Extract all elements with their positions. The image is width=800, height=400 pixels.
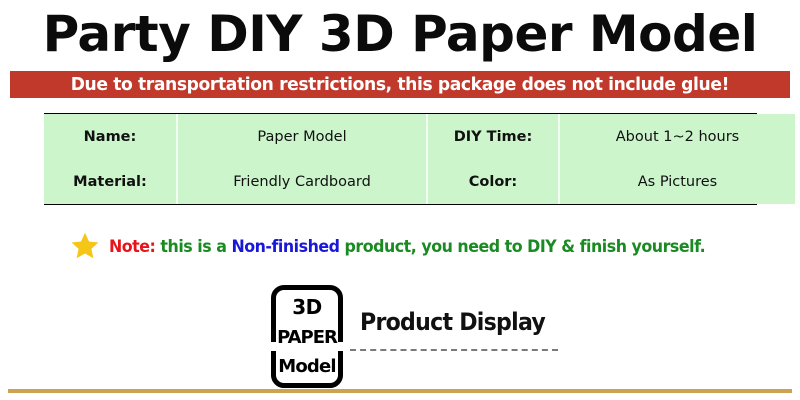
badge-line-3d: 3D: [292, 297, 322, 317]
table-row: Material: Friendly Cardboard Color: As P…: [44, 159, 795, 204]
spec-value-diy-time: About 1~2 hours: [559, 114, 795, 159]
product-display-heading: Product Display: [360, 308, 545, 336]
note-label: Note:: [109, 237, 155, 256]
badge-line-paper: PAPER: [277, 329, 337, 347]
note-segment-tail: product, you need to DIY & finish yourse…: [345, 237, 706, 256]
badge-line-model: Model: [278, 358, 336, 376]
spec-value-color: As Pictures: [559, 159, 795, 204]
transport-warning-text: Due to transportation restrictions, this…: [71, 75, 729, 95]
note-text: Note: this is a Non-finished product, yo…: [109, 237, 705, 256]
product-display-dashed-rule: [350, 349, 558, 351]
note-segment-highlight: Non-finished: [231, 237, 339, 256]
note-row: Note: this is a Non-finished product, yo…: [0, 231, 800, 261]
note-segment-intro: this is a: [160, 237, 226, 256]
page-title: Party DIY 3D Paper Model: [0, 2, 800, 66]
table-row: Name: Paper Model DIY Time: About 1~2 ho…: [44, 114, 795, 159]
star-icon: [70, 231, 100, 261]
spec-value-name: Paper Model: [177, 114, 427, 159]
transport-warning-banner: Due to transportation restrictions, this…: [10, 71, 790, 98]
spec-label-material: Material:: [44, 159, 177, 204]
badge-lines: 3D PAPER Model: [271, 285, 343, 388]
footer-gold-rule: [8, 389, 792, 393]
spec-label-color: Color:: [427, 159, 559, 204]
spec-label-diy-time: DIY Time:: [427, 114, 559, 159]
spec-label-name: Name:: [44, 114, 177, 159]
paper-model-badge: 3D PAPER Model: [271, 285, 343, 388]
product-spec-table: Name: Paper Model DIY Time: About 1~2 ho…: [44, 114, 795, 204]
spec-value-material: Friendly Cardboard: [177, 159, 427, 204]
